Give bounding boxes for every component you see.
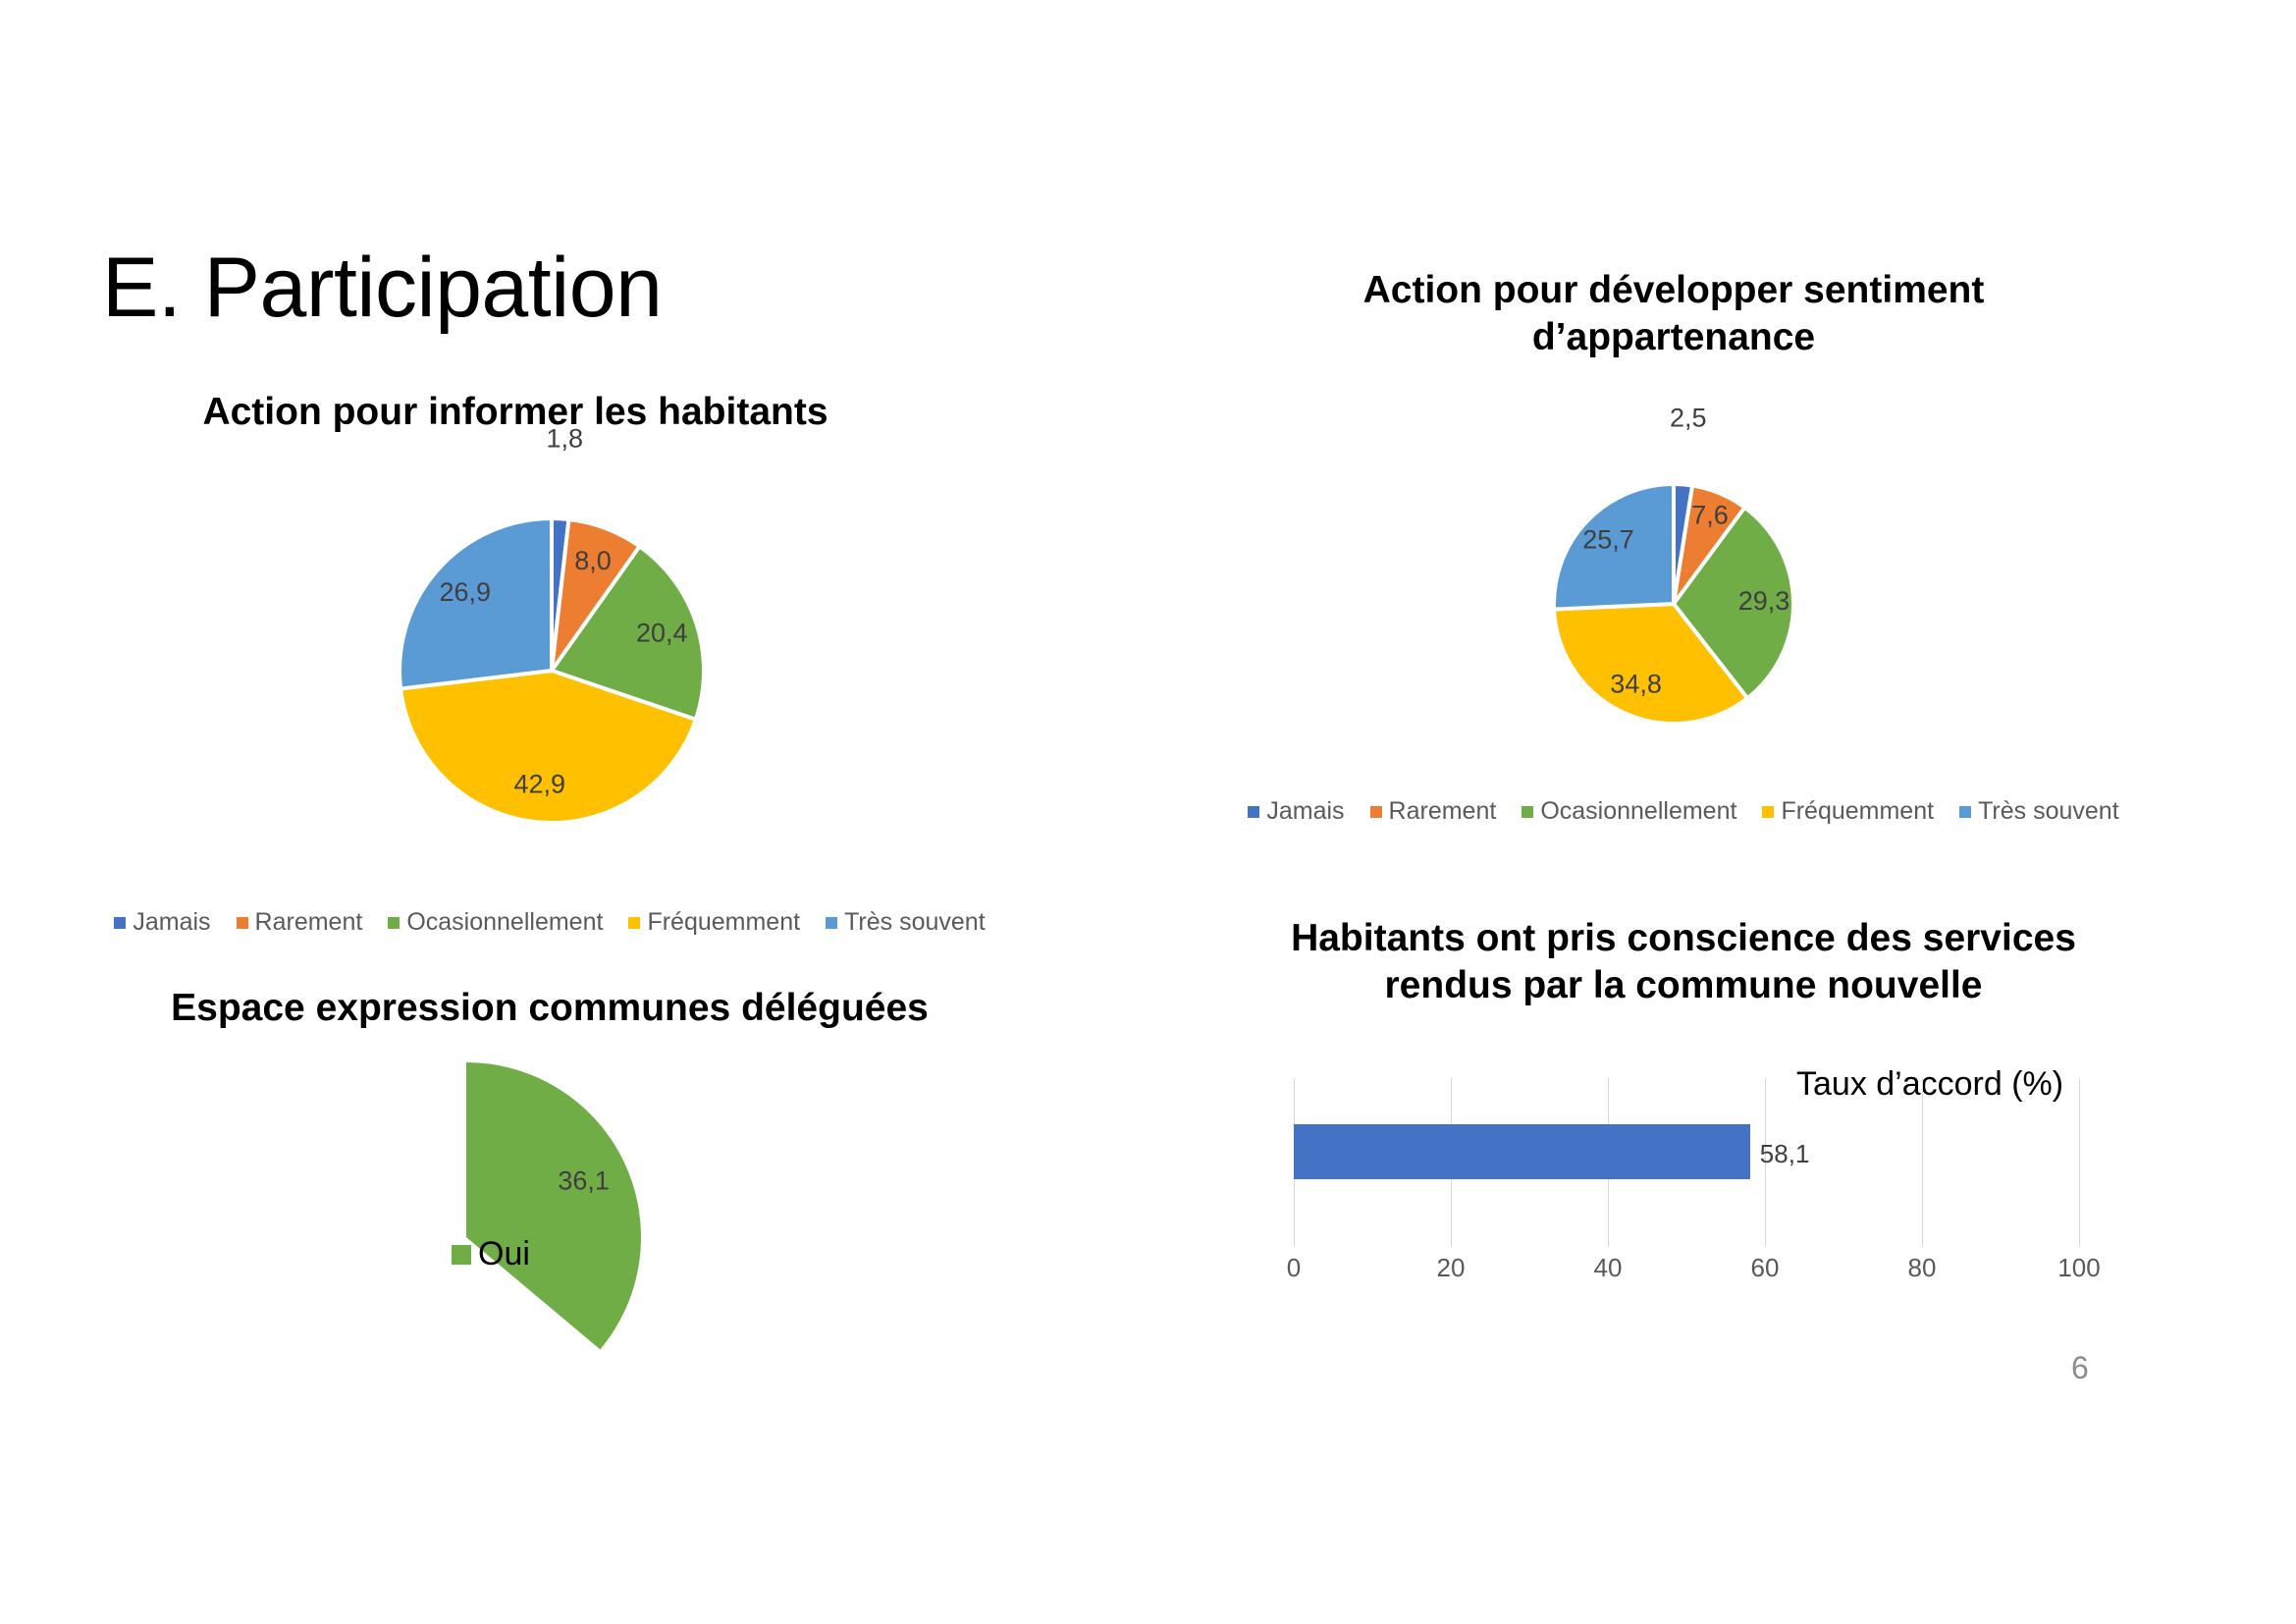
legend-swatch-icon [1762,806,1774,818]
chart1-title: Action pour informer les habitants [118,389,913,436]
legend-item: Fréquemment [628,908,800,937]
bar-chart-axis-tick-label: 40 [1594,1253,1623,1283]
legend-item: Rarement [1370,797,1497,826]
pie-slice-label: 1,8 [547,424,584,454]
legend-item-label: Rarement [1389,797,1497,826]
legend-item: Oui [452,1235,530,1273]
legend-item-label: Rarement [255,908,363,937]
legend-item-label: Jamais [1266,797,1344,826]
legend-item: Fréquemment [1762,797,1934,826]
legend-swatch-icon [628,917,640,929]
pie-slice-label: 2,5 [1670,404,1707,433]
bar-chart-axis-tick-label: 0 [1287,1253,1301,1283]
chart4-title: Habitants ont pris conscience des servic… [1227,915,2140,1008]
chart3-title: Espace expression communes déléguées [98,985,1001,1032]
bar-chart-axis-tick-label: 100 [2057,1253,2100,1283]
legend-item: Très souvent [1959,797,2119,826]
page-number: 6 [2071,1350,2089,1386]
pie-slice-label: 36,1 [558,1165,610,1195]
legend-swatch-icon [1248,806,1259,818]
legend-swatch-icon [388,917,400,929]
legend-item: Ocasionnellement [1522,797,1736,826]
pie-slice-label: 8,0 [574,546,612,575]
page-title: E. Participation [102,244,662,332]
chart2-legend: JamaisRarementOcasionnellementFréquemmen… [1281,797,2086,826]
legend-swatch-icon [1959,806,1971,818]
legend-item-label: Ocasionnellement [406,908,603,937]
legend-item-label: Oui [478,1235,530,1273]
chart2-title: Action pour développer sentiment d’appar… [1276,267,2071,360]
legend-item-label: Fréquemment [1781,797,1934,826]
bar-chart-x-axis: 020406080100 [1294,1253,2079,1292]
legend-item: Jamais [1248,797,1344,826]
pie-slice-label: 26,9 [439,577,491,607]
pie-chart-informer-habitants-svg: 1,88,020,442,926,9 [346,460,758,872]
pie-slice-label: 29,3 [1738,586,1790,616]
legend-swatch-icon [826,917,837,929]
legend-swatch-icon [237,917,248,929]
pie-slice-label: 7,6 [1691,501,1729,530]
bar-chart-axis-tick-label: 60 [1751,1253,1780,1283]
bar-chart-bar [1294,1124,1750,1179]
pie-slice-label: 42,9 [514,769,566,798]
bar-chart-axis-tick-label: 80 [1908,1253,1937,1283]
pie-chart-sentiment-appartenance-svg: 2,57,629,334,825,7 [1512,435,1836,759]
legend-swatch-icon [452,1245,471,1265]
legend-item: Très souvent [826,908,986,937]
legend-item-label: Jamais [133,908,210,937]
bar-chart-gridline [2079,1078,2080,1247]
legend-item-label: Très souvent [844,908,986,937]
legend-item: Jamais [114,908,210,937]
legend-item: Ocasionnellement [388,908,603,937]
pie-slice [466,1062,641,1349]
pie-slice-label: 34,8 [1610,670,1662,699]
legend-item-label: Fréquemment [647,908,800,937]
legend-item-label: Ocasionnellement [1540,797,1736,826]
legend-swatch-icon [1522,806,1533,818]
bar-chart-axis-tick-label: 20 [1437,1253,1466,1283]
chart1-legend: JamaisRarementOcasionnellementFréquemmen… [147,908,952,937]
bar-chart-taux-accord: 58,1 020406080100 [1294,1078,2079,1284]
pie-chart-informer-habitants: 1,88,020,442,926,9 [346,460,758,872]
legend-swatch-icon [114,917,126,929]
bar-chart-value-label: 58,1 [1760,1139,1810,1169]
bar-chart-gridline [1922,1078,1923,1247]
pie-slice-label: 25,7 [1582,525,1634,555]
legend-item: Rarement [237,908,363,937]
pie-slice-label: 20,4 [636,619,688,648]
legend-item-label: Très souvent [1978,797,2119,826]
slide-canvas: E. Participation Action pour informer le… [0,0,2296,1624]
chart3-legend: Oui [452,1235,530,1273]
bar-chart-plot-area: 58,1 [1294,1078,2079,1247]
legend-swatch-icon [1370,806,1382,818]
pie-chart-sentiment-appartenance: 2,57,629,334,825,7 [1512,435,1836,759]
